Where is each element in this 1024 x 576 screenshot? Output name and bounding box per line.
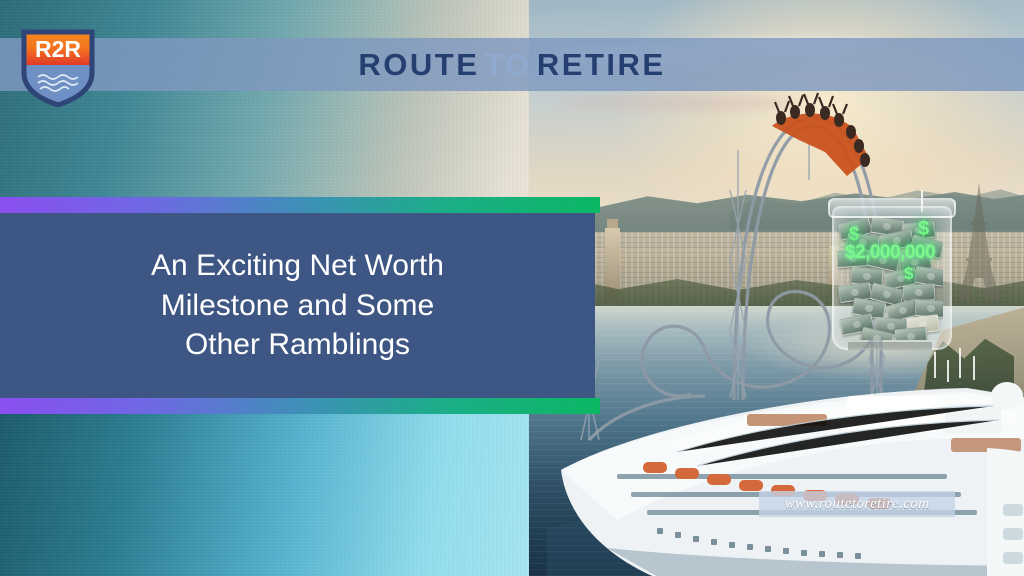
featured-image-banner: $ $ $ $2,000,000 [0,0,1024,576]
post-title-card: An Exciting Net Worth Milestone and Some… [0,213,595,398]
post-title-line-3: Other Ramblings [185,325,410,365]
r2r-shield-logo[interactable]: R2R [19,27,97,107]
dollar-sign-right: $ [918,218,929,241]
money-jar: $ $ $ $2,000,000 [832,196,948,346]
website-url-badge[interactable]: www.routetoretire.com [759,491,955,517]
site-title: ROUTE TO RETIRE [0,38,1024,91]
cruise-ship [547,352,1024,576]
logo-text: R2R [35,36,81,62]
site-title-word-to: TO [484,47,532,83]
jar-lip [828,198,956,218]
post-title-line-2: Milestone and Some [161,286,435,326]
post-title-line-1: An Exciting Net Worth [151,246,444,286]
jar-platform [848,342,932,350]
dollar-sign-bottom: $ [904,264,913,284]
site-title-word-retire: RETIRE [537,47,666,83]
accent-bar-bottom [0,398,600,414]
accent-bar-top [0,197,600,213]
jar-amount-label: $2,000,000 [832,242,948,264]
coaster-train [772,93,870,176]
site-title-word-route: ROUTE [358,47,479,83]
website-url-text: www.routetoretire.com [785,496,930,513]
